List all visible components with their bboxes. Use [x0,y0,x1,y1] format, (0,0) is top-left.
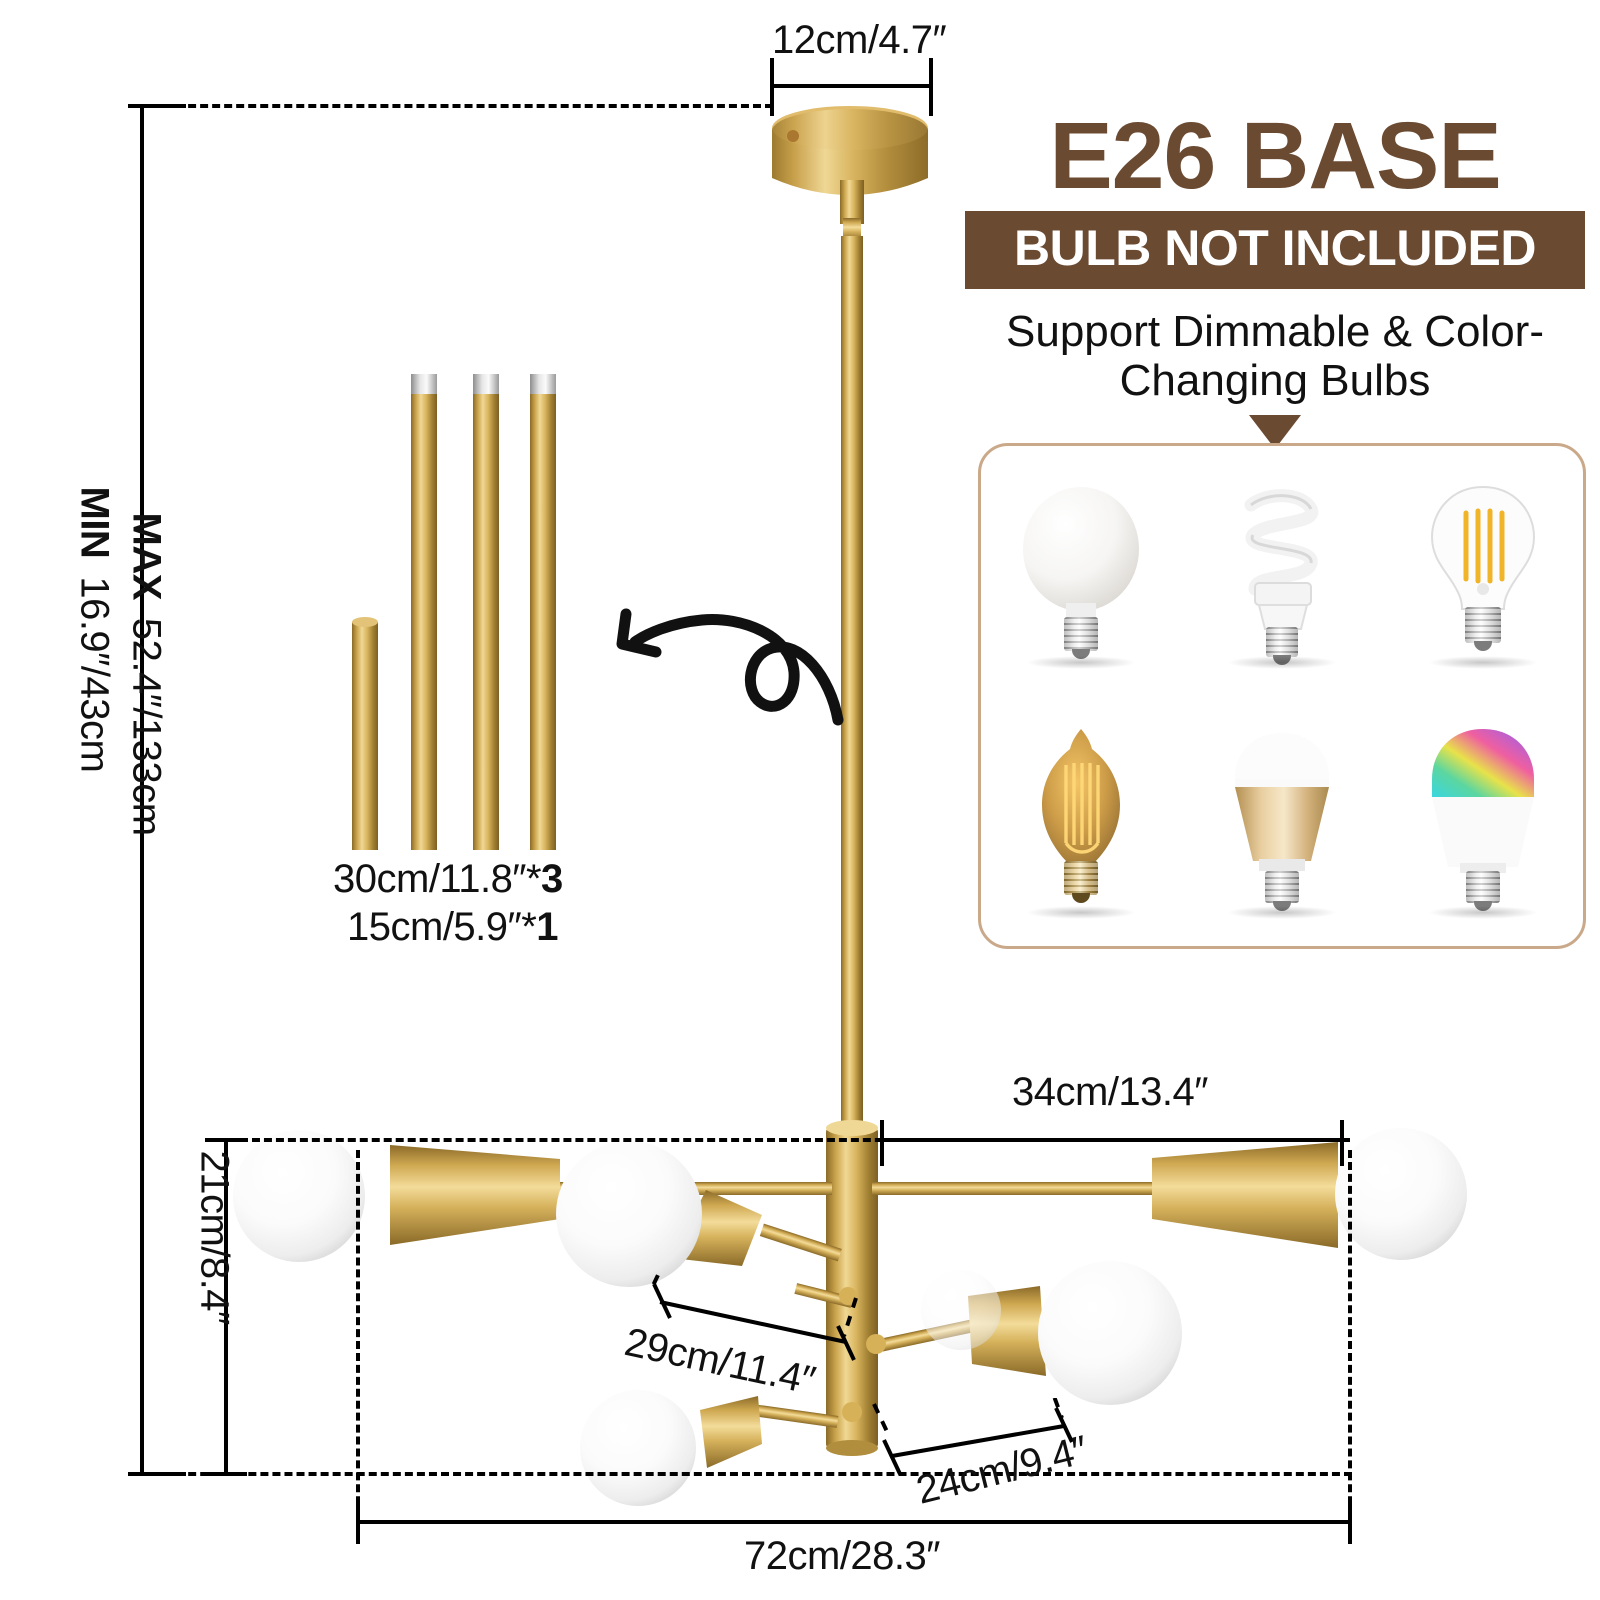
arm-left-lower [580,1390,862,1506]
e26-title: E26 BASE [965,108,1585,205]
rgb-smart-bulb-icon [1408,721,1558,921]
canopy-dash-left [128,104,773,108]
infographic-canvas: 12cm/4.7″ MIN 16.9″/43cm MAX 52.4″/133cm… [0,0,1600,1600]
bulb-globe-left-mid [556,1141,702,1287]
bulb-globe-left-upper [233,1130,365,1262]
height-max-label: MAX [124,513,169,600]
bulb-cell-cfl [1182,446,1383,696]
bulb-cell-edison [981,696,1182,946]
bulb-cell-gold-led [1182,696,1383,946]
drop-rod [840,180,864,1136]
cfl-spiral-bulb-icon [1207,471,1357,671]
width-dash-right [1348,1150,1352,1540]
edison-st64-bulb-icon [1006,721,1156,921]
rod-short-15cm [352,617,378,850]
drop-top-dash [240,1138,1350,1142]
width-dash-left [356,1150,360,1540]
canopy-dimension-label: 12cm/4.7″ [772,18,946,63]
bulb-globe-behind [921,1270,1001,1350]
bulb-cell-globe [981,446,1182,696]
drop-dimension-label: 21cm/8.4″ [193,1151,237,1325]
e26-note-line1: Support Dimmable & Color- [965,307,1585,356]
height-cap-top [128,104,186,108]
e26-note: Support Dimmable & Color- Changing Bulbs [965,307,1585,406]
e26-subtitle: BULB NOT INCLUDED [965,211,1585,289]
globe-bulb-icon [1006,471,1156,671]
bulb-globe-right-upper [1335,1128,1467,1260]
rod-long-count: 3 [541,857,563,901]
arm-long-tick-left [880,1120,884,1166]
rod-short-label-row: 15cm/5.9″*1 [347,905,558,950]
rod-long-label: 30cm/11.8″* [333,857,541,901]
rod-short-count: 1 [536,905,558,949]
arm-left-mid [556,1141,842,1287]
curved-arrow-icon [622,614,838,720]
led-filament-bulb-icon [1408,471,1558,671]
arm-long-dimension-label: 34cm/13.4″ [1012,1070,1208,1115]
rod-long-label-row: 30cm/11.8″*3 [333,857,563,902]
rod-short-label: 15cm/5.9″* [347,905,536,949]
bulb-cell-rgb [1382,696,1583,946]
rod-long-30cm-3 [530,374,556,850]
canopy-dim-line [770,84,931,88]
bulb-cell-filament [1382,446,1583,696]
width-dim-line [356,1520,1350,1524]
height-min-value: 16.9″/43cm [72,576,117,772]
height-max-value: 52.4″/133cm [124,618,169,836]
arm-right-upper [872,1128,1467,1260]
width-dimension-label: 72cm/28.3″ [744,1534,940,1579]
height-max-group: MAX 52.4″/133cm [124,513,169,1113]
drop-bottom-dash [140,1472,1352,1476]
gold-led-bulb-icon [1207,721,1357,921]
drop-dimension-label-group: 21cm/8.4″ [192,1151,237,1491]
bulb-globe-right-lower [1038,1261,1182,1405]
height-min-label: MIN [72,487,117,559]
arm-long-tick-right [1340,1120,1344,1166]
compatible-bulbs-panel [978,443,1586,949]
bulb-globe-left-lower [580,1390,696,1506]
height-min-group: MIN 16.9″/43cm [72,487,117,1047]
rod-long-30cm-1 [411,374,437,850]
e26-headline-block: E26 BASE BULB NOT INCLUDED Support Dimma… [965,108,1585,449]
e26-note-line2: Changing Bulbs [965,356,1585,405]
rod-long-30cm-2 [473,374,499,850]
